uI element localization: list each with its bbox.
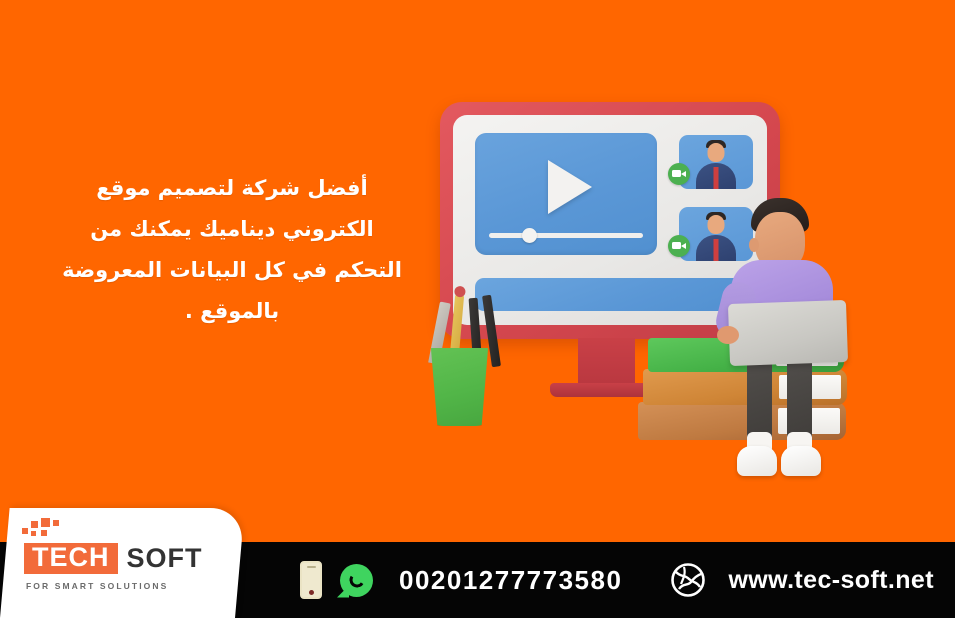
brand-logo[interactable]: TECH SOFT FOR SMART SOLUTIONS [24, 542, 203, 591]
hero-illustration [395, 80, 955, 500]
pixel-squares-icon [22, 518, 68, 542]
phone-number[interactable]: 00201277773580 [399, 565, 622, 596]
person-shoe-left [737, 446, 777, 476]
person-with-laptop [715, 198, 845, 488]
content-bar [475, 278, 753, 311]
avatar-head [708, 143, 725, 162]
person-shoe-right [781, 446, 821, 476]
play-icon[interactable] [548, 160, 592, 214]
logo-panel: TECH SOFT FOR SMART SOLUTIONS [0, 508, 245, 618]
seek-track[interactable] [489, 233, 643, 238]
website-url[interactable]: www.tec-soft.net [728, 566, 933, 595]
ad-banner: أفضل شركة لتصميم موقع الكتروني ديناميك ي… [0, 0, 955, 618]
video-camera-icon[interactable] [668, 235, 690, 257]
video-camera-icon[interactable] [668, 163, 690, 185]
footer-bar: 00201277773580 www.tec-soft.net [0, 542, 955, 618]
headline-line-3: التحكم في كل البيانات المعروضة [62, 250, 402, 291]
whatsapp-handset-glyph [348, 571, 366, 589]
logo-secondary-text: SOFT [127, 545, 203, 572]
globe-icon [670, 562, 706, 598]
seek-knob[interactable] [522, 228, 537, 243]
page-title: أفضل شركة لتصميم موقع الكتروني ديناميك ي… [62, 168, 402, 332]
video-player-panel[interactable] [475, 133, 657, 255]
logo-primary-text: TECH [24, 543, 118, 574]
headline-line-2: الكتروني ديناميك يمكنك من [62, 209, 402, 250]
person-ear [749, 238, 759, 252]
participant-thumbnail-1[interactable] [679, 135, 753, 189]
headline-line-1: أفضل شركة لتصميم موقع [62, 168, 402, 209]
avatar-tie [714, 167, 719, 189]
contact-row: 00201277773580 www.tec-soft.net [300, 542, 934, 618]
laptop [728, 300, 848, 366]
logo-tagline: FOR SMART SOLUTIONS [26, 581, 203, 591]
pencil-cup [427, 348, 492, 426]
smartphone-icon [300, 561, 322, 599]
whatsapp-icon[interactable] [340, 564, 373, 597]
person-hand [717, 326, 739, 344]
headline-line-4: بالموقع . [62, 291, 402, 332]
